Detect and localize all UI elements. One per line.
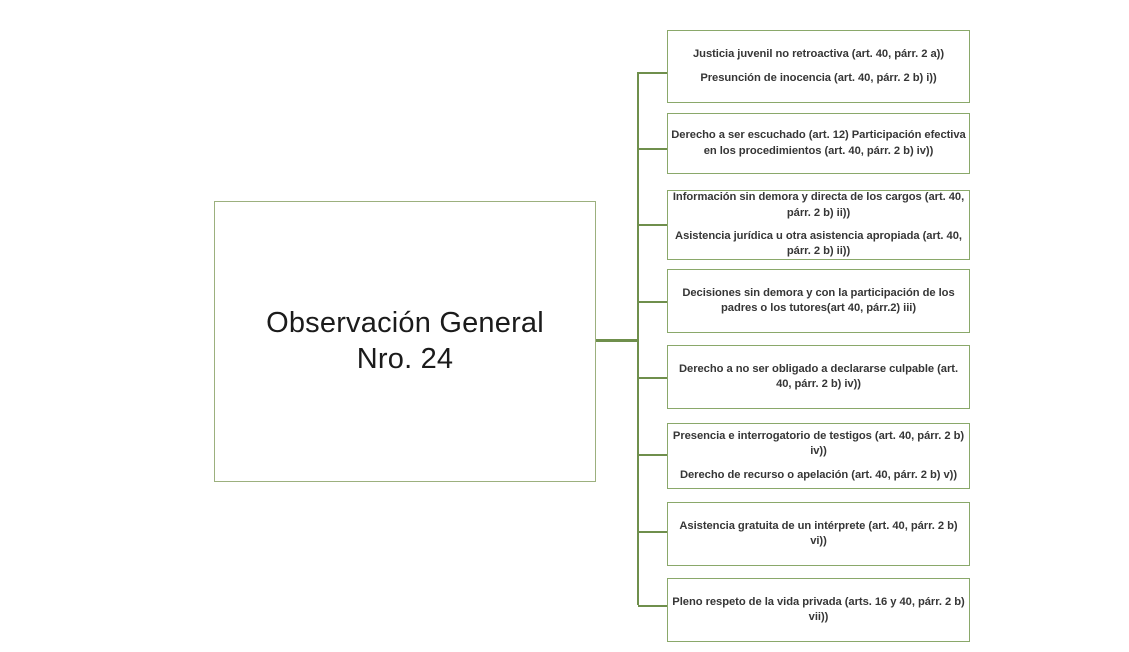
node-line: Decisiones sin demora y con la participa…: [671, 286, 966, 317]
connector-branch-6: [638, 454, 668, 456]
root-node-observacion-general[interactable]: Observación General Nro. 24: [214, 201, 596, 482]
node-line: Presunción de inocencia (art. 40, párr. …: [671, 71, 966, 86]
connector-branch-4: [638, 301, 668, 303]
node-line: Pleno respeto de la vida privada (arts. …: [671, 595, 966, 626]
node-no-declararse-culpable[interactable]: Derecho a no ser obligado a declararse c…: [667, 345, 970, 409]
connector-branch-5: [638, 377, 668, 379]
connector-spine: [637, 72, 639, 605]
connector-branch-1: [638, 72, 668, 74]
node-asistencia-interprete[interactable]: Asistencia gratuita de un intérprete (ar…: [667, 502, 970, 566]
connector-branch-3: [638, 224, 668, 226]
node-line: Información sin demora y directa de los …: [671, 190, 966, 221]
node-derecho-a-ser-escuchado[interactable]: Derecho a ser escuchado (art. 12) Partic…: [667, 113, 970, 174]
node-line: Derecho a ser escuchado (art. 12) Partic…: [671, 128, 966, 159]
node-line: Presencia e interrogatorio de testigos (…: [671, 429, 966, 460]
connector-branch-7: [638, 531, 668, 533]
node-line: Derecho de recurso o apelación (art. 40,…: [671, 468, 966, 483]
connector-root-to-spine: [596, 339, 639, 342]
node-vida-privada[interactable]: Pleno respeto de la vida privada (arts. …: [667, 578, 970, 642]
node-interrogatorio-de-testigos[interactable]: Presencia e interrogatorio de testigos (…: [667, 423, 970, 489]
node-line: Asistencia gratuita de un intérprete (ar…: [671, 519, 966, 550]
node-justicia-juvenil[interactable]: Justicia juvenil no retroactiva (art. 40…: [667, 30, 970, 103]
node-informacion-sin-demora[interactable]: Información sin demora y directa de los …: [667, 190, 970, 260]
node-decisiones-sin-demora[interactable]: Decisiones sin demora y con la participa…: [667, 269, 970, 333]
connector-branch-8: [638, 605, 668, 607]
diagram-canvas: Observación General Nro. 24 Justicia juv…: [0, 0, 1129, 652]
connector-branch-2: [638, 148, 668, 150]
root-node-label: Observación General Nro. 24: [262, 306, 548, 377]
node-line: Justicia juvenil no retroactiva (art. 40…: [671, 47, 966, 62]
node-line: Asistencia jurídica u otra asistencia ap…: [671, 229, 966, 260]
node-line: Derecho a no ser obligado a declararse c…: [671, 362, 966, 393]
